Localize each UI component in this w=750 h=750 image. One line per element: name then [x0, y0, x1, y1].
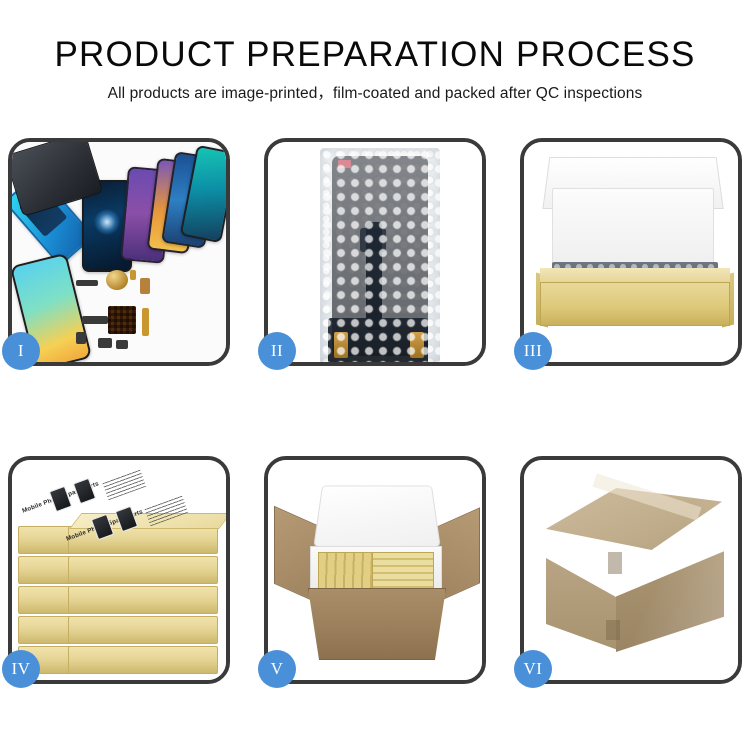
step-2-image: [268, 142, 482, 362]
small-part-1: [76, 280, 98, 286]
page-title: PRODUCT PREPARATION PROCESS: [0, 34, 750, 76]
step-badge-6: VI: [514, 650, 552, 688]
step-3-image: [524, 142, 738, 362]
flex-cable-part: [142, 308, 149, 336]
process-step-1[interactable]: I: [8, 138, 230, 366]
process-step-3[interactable]: III: [520, 138, 742, 366]
retail-box-r4: [68, 616, 218, 644]
retail-box-r5: [68, 646, 218, 674]
small-part-2: [82, 316, 108, 324]
connector-right: [410, 332, 424, 358]
step-5-image: [268, 460, 482, 680]
small-part-4: [98, 338, 112, 348]
retail-box-spec-back: [102, 468, 146, 500]
chip-part: [108, 306, 136, 334]
retail-box-r3: [68, 586, 218, 614]
step-badge-4: IV: [2, 650, 40, 688]
page-subtitle: All products are image-printed，film-coat…: [0, 83, 750, 105]
process-step-5[interactable]: V: [264, 456, 486, 684]
process-step-2[interactable]: II: [264, 138, 486, 366]
screen-flex-cable: [366, 222, 382, 330]
screw-part: [130, 270, 136, 280]
qc-tag: [338, 160, 351, 168]
step-badge-1: I: [2, 332, 40, 370]
connector-left: [334, 332, 348, 358]
small-part-3: [76, 332, 86, 344]
page-header: PRODUCT PREPARATION PROCESS All products…: [0, 0, 750, 105]
packed-retail-boxes-right: [372, 552, 434, 594]
small-part-5: [116, 340, 128, 349]
foam-box-lid: [313, 486, 441, 547]
carton-front-wall: [308, 588, 446, 660]
process-step-grid: I II III: [8, 138, 742, 684]
retail-box-r2: [68, 556, 218, 584]
speaker-part: [106, 270, 128, 290]
step-4-image: Mobile Phone Spare Parts Mobile Phone Sp…: [12, 460, 226, 680]
process-step-4[interactable]: Mobile Phone Spare Parts Mobile Phone Sp…: [8, 456, 230, 684]
gold-tray-box: [540, 282, 730, 326]
step-6-image: [524, 460, 738, 680]
step-badge-2: II: [258, 332, 296, 370]
step-1-image: [12, 142, 226, 362]
carton-seam-lower: [606, 620, 620, 640]
carton-seam-upper: [608, 552, 622, 574]
process-step-6[interactable]: VI: [520, 456, 742, 684]
button-part: [140, 278, 150, 294]
step-badge-5: V: [258, 650, 296, 688]
step-badge-3: III: [514, 332, 552, 370]
